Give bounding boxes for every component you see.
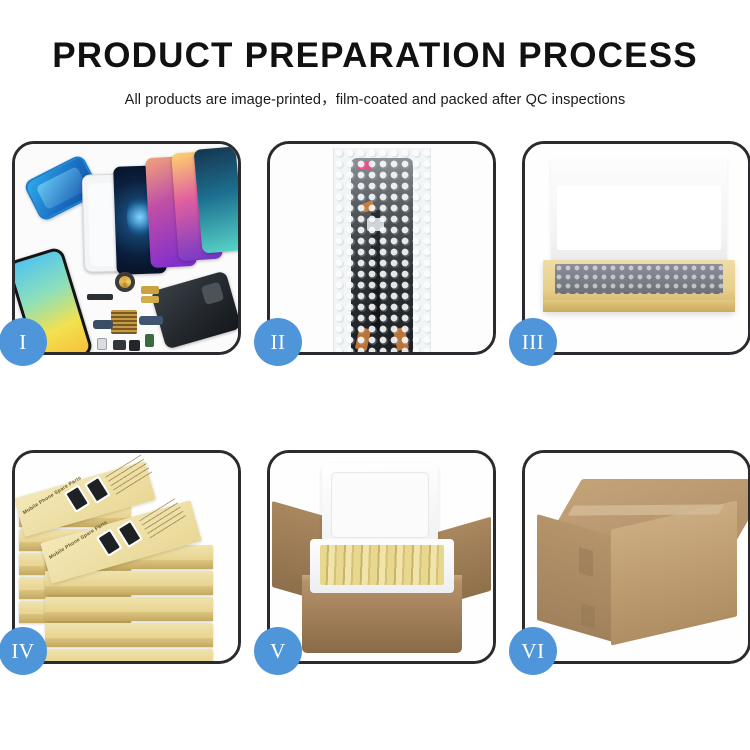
process-steps-grid: I II xyxy=(12,141,739,671)
connector-plug xyxy=(367,218,384,231)
yellow-box-lid-open xyxy=(551,158,727,270)
small-component-3 xyxy=(145,334,154,347)
step-2-image xyxy=(270,144,493,352)
step-badge-4: IV xyxy=(0,627,47,675)
stacked-box-f4 xyxy=(45,623,213,647)
step-badge-5: V xyxy=(254,627,302,675)
foam-lid xyxy=(322,463,438,547)
stacked-box-f5 xyxy=(45,649,213,661)
packed-yellow-boxes xyxy=(320,545,444,585)
camera-lens-ring xyxy=(115,272,135,292)
copper-tape-2 xyxy=(354,327,370,351)
sim-tray-part xyxy=(97,338,107,350)
product-preparation-infographic: PRODUCT PREPARATION PROCESS All products… xyxy=(0,0,750,750)
flex-cable-left xyxy=(93,320,113,329)
step-panel-1: I xyxy=(12,141,241,355)
step-badge-1: I xyxy=(0,318,47,366)
flex-cable-right xyxy=(139,316,163,325)
step-panel-5: V xyxy=(267,450,496,664)
gold-connector-1 xyxy=(141,286,159,294)
step-badge-2: II xyxy=(254,318,302,366)
stacked-box-f3 xyxy=(45,597,213,621)
step-panel-3: III xyxy=(522,141,750,355)
step-4-image: Mobile Phone Spare Parts Mobile Phone Sp… xyxy=(15,453,238,661)
phone-back-housing xyxy=(150,270,238,349)
step-panel-6: VI xyxy=(522,450,750,664)
packing-tape-seam xyxy=(568,504,724,515)
bubble-wrapped-contents xyxy=(555,264,723,294)
gold-connector-2 xyxy=(141,296,159,303)
step-panel-4: Mobile Phone Spare Parts Mobile Phone Sp… xyxy=(12,450,241,664)
lid-spec-lines-top xyxy=(105,455,153,498)
lid-spec-lines-second xyxy=(139,498,187,541)
tape-patch-upper xyxy=(579,547,593,577)
small-component-2 xyxy=(129,340,140,351)
box-front-rim xyxy=(543,300,735,312)
step-panel-2: II xyxy=(267,141,496,355)
page-subtitle: All products are image-printed，film-coat… xyxy=(0,73,750,109)
bubble-wrap-bag xyxy=(333,148,431,352)
wrapped-screen-assembly xyxy=(351,158,413,352)
carton-left-face xyxy=(537,514,613,642)
small-component-1 xyxy=(113,340,126,350)
ic-chip-grid xyxy=(111,310,137,334)
step-badge-6: VI xyxy=(509,627,557,675)
foam-liner xyxy=(310,539,454,593)
step-6-image xyxy=(525,453,748,661)
yellow-box-base xyxy=(543,260,735,312)
speaker-part xyxy=(87,294,113,300)
step-3-image xyxy=(525,144,748,352)
copper-tape-3 xyxy=(392,327,408,351)
qc-sticker xyxy=(358,162,372,170)
page-title: PRODUCT PREPARATION PROCESS xyxy=(0,0,750,73)
step-1-image xyxy=(15,144,238,352)
box-stack: Mobile Phone Spare Parts Mobile Phone Sp… xyxy=(15,453,238,661)
tape-patch-lower xyxy=(581,603,595,629)
step-badge-3: III xyxy=(509,318,557,366)
step-5-image xyxy=(270,453,493,661)
header: PRODUCT PREPARATION PROCESS All products… xyxy=(0,0,750,109)
